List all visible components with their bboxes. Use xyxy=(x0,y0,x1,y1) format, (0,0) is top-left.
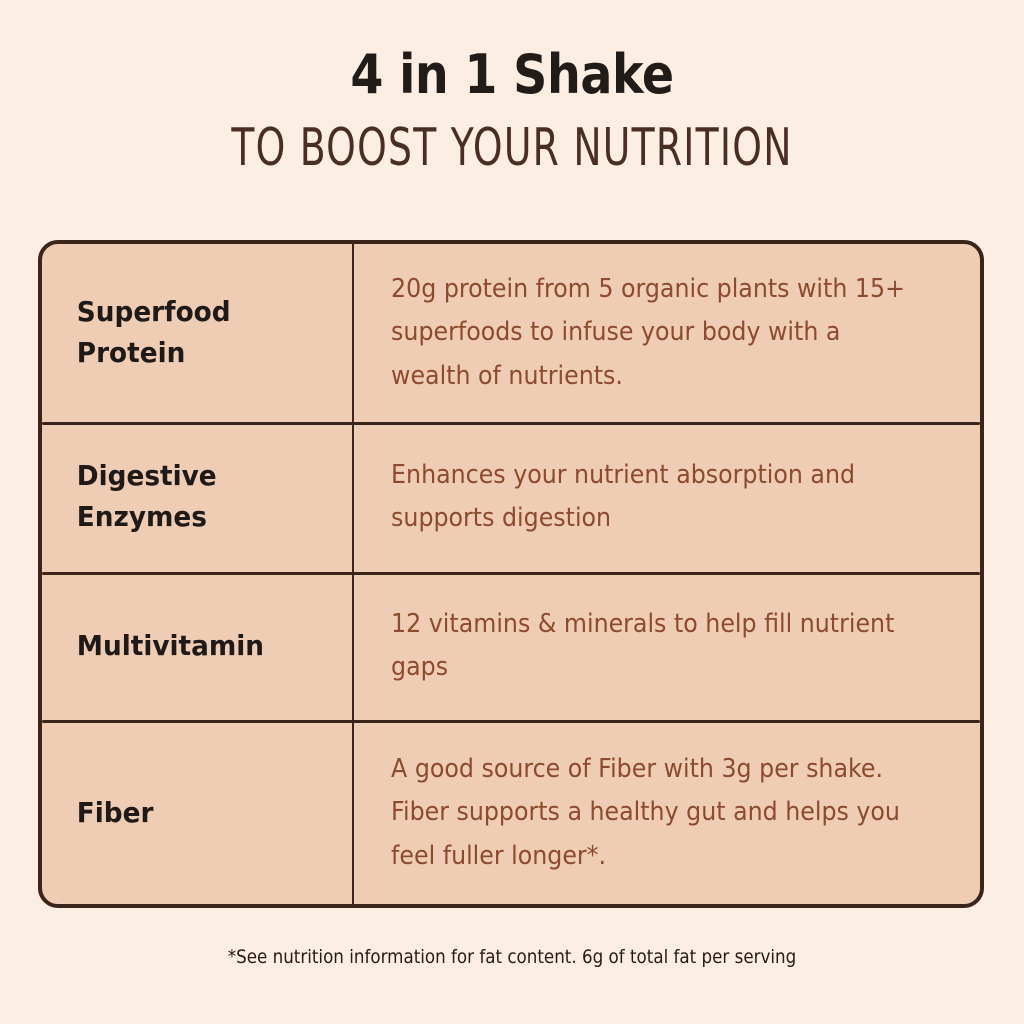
benefit-label: SuperfoodProtein xyxy=(42,292,333,373)
column-divider xyxy=(352,244,354,904)
table-row: Fiber A good source of Fiber with 3g per… xyxy=(42,720,980,906)
table-row: SuperfoodProtein 20g protein from 5 orga… xyxy=(42,244,980,422)
header: 4 in 1 Shake TO BOOST YOUR NUTRITION xyxy=(0,0,1024,170)
benefits-table: SuperfoodProtein 20g protein from 5 orga… xyxy=(38,240,984,908)
table-row: Multivitamin 12 vitamins & minerals to h… xyxy=(42,572,980,720)
benefit-label: Fiber xyxy=(42,793,333,834)
footnote: *See nutrition information for fat conte… xyxy=(61,946,962,969)
benefit-description: A good source of Fiber with 3g per shake… xyxy=(352,748,936,878)
benefit-description: 12 vitamins & minerals to help fill nutr… xyxy=(352,603,936,690)
benefits-table-wrapper: SuperfoodProtein 20g protein from 5 orga… xyxy=(38,240,984,908)
benefit-description: Enhances your nutrient absorption and su… xyxy=(352,454,936,541)
table-row: DigestiveEnzymes Enhances your nutrient … xyxy=(42,422,980,572)
benefit-label: DigestiveEnzymes xyxy=(42,456,333,537)
page-subtitle: TO BOOST YOUR NUTRITION xyxy=(92,121,932,173)
benefit-description: 20g protein from 5 organic plants with 1… xyxy=(352,268,936,398)
page-title: 4 in 1 Shake xyxy=(61,48,962,102)
benefit-label: Multivitamin xyxy=(42,626,333,667)
